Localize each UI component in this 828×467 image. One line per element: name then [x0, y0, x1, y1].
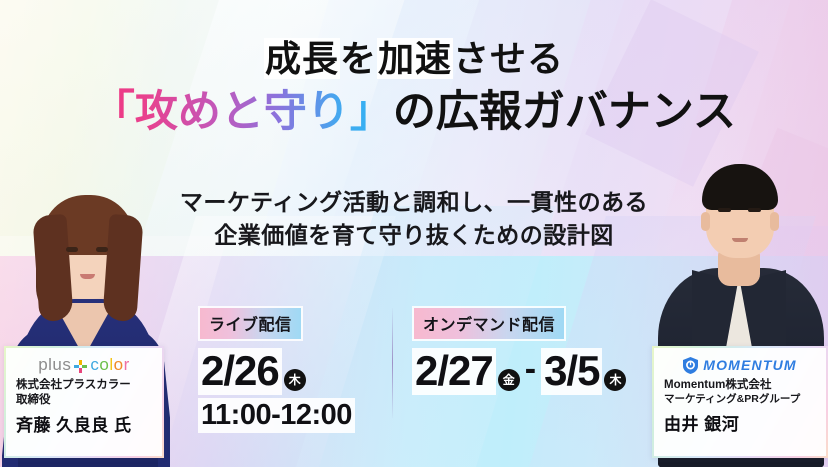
subtitle-line-2: 企業価値を育て守り抜くための設計図 — [0, 219, 828, 252]
ondemand-date-separator: - — [525, 350, 536, 389]
plus-color-logo-text-color: color — [90, 355, 129, 375]
speaker-company-saito: 株式会社プラスカラー — [12, 378, 156, 393]
speaker-card-yui: MOMENTUM Momentum株式会社 マーケティング&PRグループ 由井 … — [652, 346, 828, 458]
plus-color-logo: plus color — [12, 355, 156, 375]
schedule-ondemand: オンデマンド配信 2/27 金 - 3/5 木 — [412, 306, 662, 395]
live-date: 2/26 — [198, 348, 282, 395]
schedule-live: ライブ配信 2/26 木 11:00-12:00 — [198, 306, 374, 433]
title-line-1: 成長を加速させる — [0, 36, 828, 82]
speaker-title-yui: マーケティング&PRグループ — [660, 393, 820, 407]
title-gradient-phrase: 「攻めと守り」 — [92, 88, 393, 136]
live-badge: ライブ配信 — [200, 308, 301, 339]
speaker-card-saito: plus color 株式会社プラスカラー 取締役 斉藤 久良良 氏 — [4, 346, 164, 458]
speaker-card-inner: plus color 株式会社プラスカラー 取締役 斉藤 久良良 氏 — [6, 348, 162, 456]
plus-icon — [74, 360, 87, 373]
live-time-row: 11:00-12:00 — [198, 395, 374, 433]
ondemand-date-row: 2/27 金 - 3/5 木 — [412, 348, 662, 395]
webinar-banner: 成長を加速させる 「攻めと守り」の広報ガバナンス マーケティング活動と調和し、一… — [0, 0, 828, 467]
ondemand-badge-wrapper: オンデマンド配信 — [412, 306, 566, 341]
speaker-name-saito: 斉藤 久良良 氏 — [12, 411, 156, 436]
live-date-row: 2/26 木 — [198, 348, 374, 395]
momentum-logo: MOMENTUM — [660, 355, 820, 375]
title-text-wo: を — [340, 38, 377, 79]
speaker-card-inner: MOMENTUM Momentum株式会社 マーケティング&PRグループ 由井 … — [654, 348, 826, 456]
speaker-name-yui: 由井 銀河 — [660, 410, 820, 435]
shield-icon — [683, 357, 698, 374]
live-time: 11:00-12:00 — [198, 398, 355, 433]
title-block: 成長を加速させる 「攻めと守り」の広報ガバナンス — [0, 36, 828, 139]
subtitle-line-1: マーケティング活動と調和し、一貫性のある — [0, 186, 828, 219]
schedule-divider — [392, 308, 393, 418]
title-highlight-growth: 成長 — [264, 38, 340, 79]
ondemand-end-date: 3/5 — [541, 348, 602, 395]
title-line-2-rest: の広報ガバナンス — [393, 88, 736, 136]
subtitle-block: マーケティング活動と調和し、一貫性のある 企業価値を育て守り抜くための設計図 — [0, 186, 828, 251]
title-line-2: 「攻めと守り」の広報ガバナンス — [0, 86, 828, 138]
ondemand-start-day-of-week: 金 — [498, 369, 520, 391]
ondemand-end-day-of-week: 木 — [604, 369, 626, 391]
live-day-of-week: 木 — [284, 369, 306, 391]
ondemand-start-date: 2/27 — [412, 348, 496, 395]
plus-color-logo-text-plus: plus — [38, 355, 71, 375]
title-text-saseru: させる — [453, 38, 564, 79]
speaker-title-saito: 取締役 — [12, 393, 156, 408]
live-badge-wrapper: ライブ配信 — [198, 306, 303, 341]
ondemand-badge: オンデマンド配信 — [414, 308, 564, 339]
speaker-company-yui: Momentum株式会社 — [660, 378, 820, 393]
momentum-logo-text: MOMENTUM — [703, 357, 797, 373]
title-highlight-accelerate: 加速 — [377, 38, 453, 79]
